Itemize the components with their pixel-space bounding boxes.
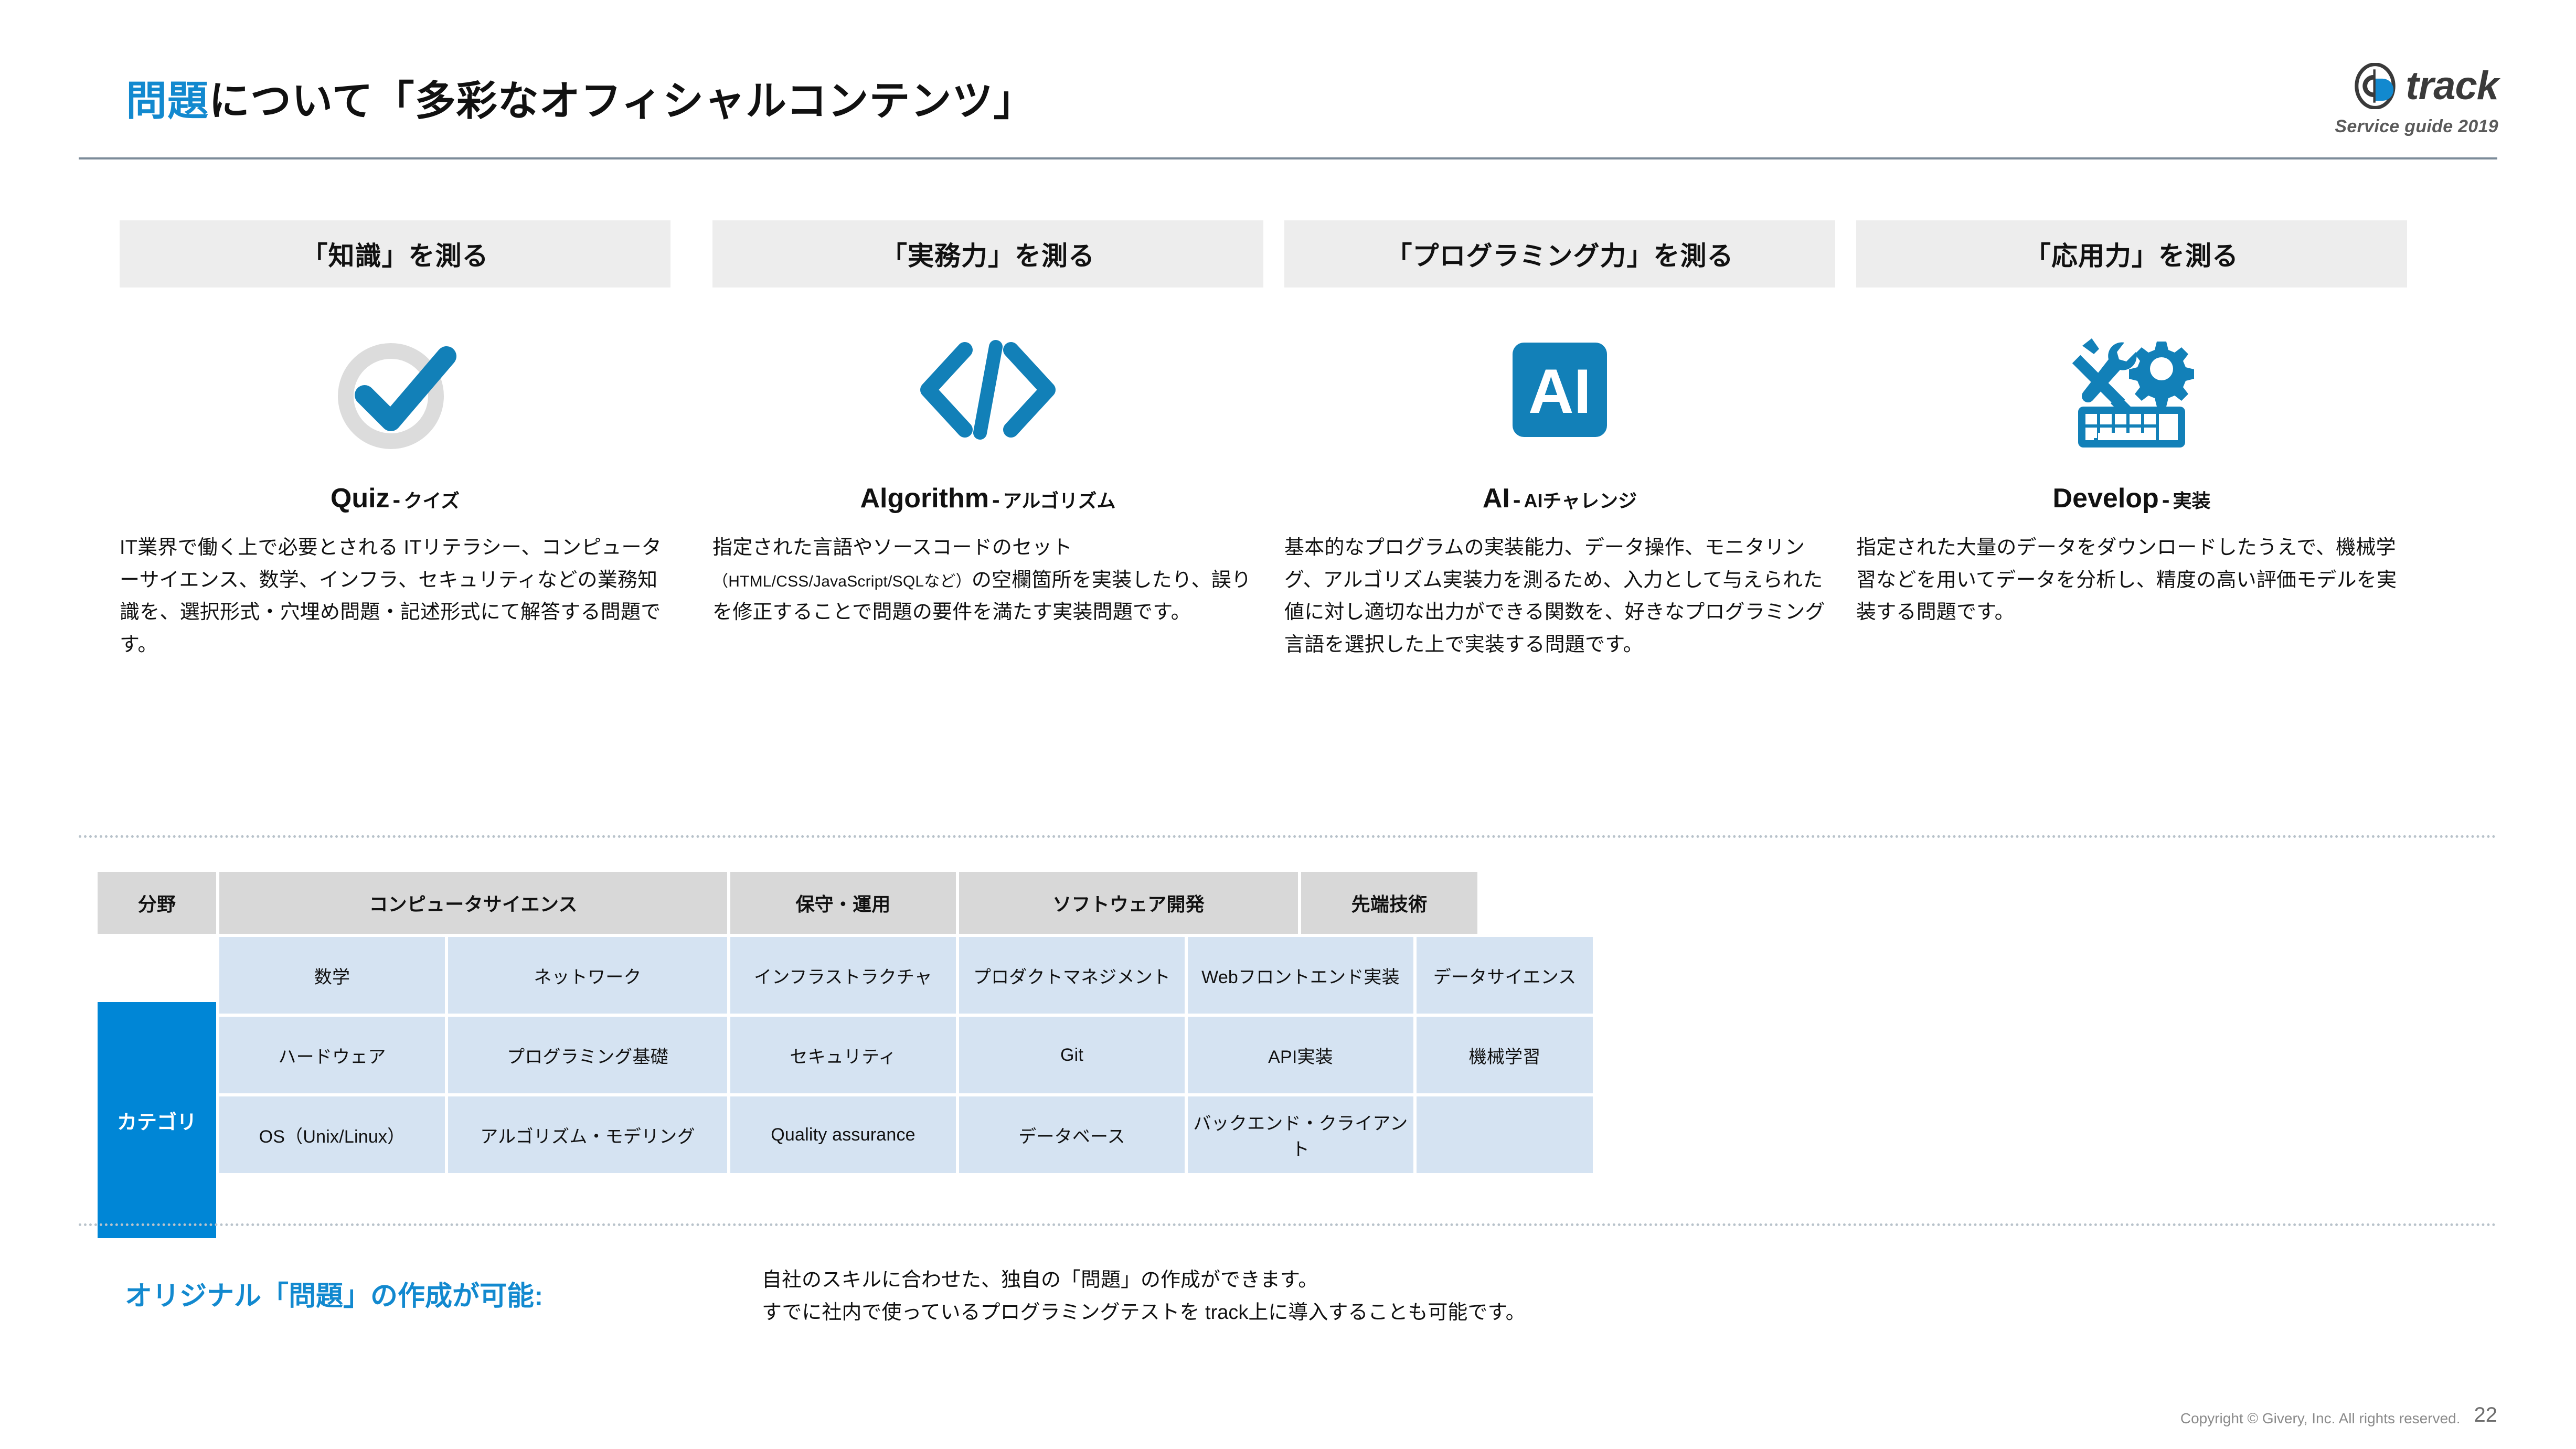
table-cell <box>1417 1096 1593 1173</box>
footer-copyright: Copyright © Givery, Inc. All rights rese… <box>2180 1410 2461 1427</box>
table-cell: Git <box>959 1017 1185 1093</box>
table-cell: プログラミング基礎 <box>448 1017 727 1093</box>
track-circle-logo-icon <box>2352 63 2398 109</box>
table-cell: ネットワーク <box>448 937 727 1014</box>
note-line-2: すでに社内で使っているプログラミングテストを track上に導入することも可能で… <box>762 1297 1526 1329</box>
column-develop-name: Develop-実装 <box>1856 483 2407 514</box>
header-divider <box>79 157 2497 159</box>
content-type-columns: 「知識」を測る Quiz-クイズ IT業界で働く上で必要とされる ITリテラシー… <box>0 220 2576 808</box>
column-ai-name-en: AI <box>1483 483 1510 514</box>
column-quiz-name: Quiz-クイズ <box>120 483 670 514</box>
table-row: ハードウェア プログラミング基礎 セキュリティ Git API実装 機械学習 <box>219 1017 2479 1093</box>
column-algorithm: 「実務力」を測る Algorithm-アルゴリズム 指定された言語やソースコード… <box>712 220 1263 629</box>
note-line-1: 自社のスキルに合わせた、独自の「問題」の作成ができます。 <box>762 1264 1526 1297</box>
table-body: カテゴリ 数学 ネットワーク インフラストラクチャ プロダクトマネジメント We… <box>98 937 2479 1173</box>
table-cell: データベース <box>959 1096 1185 1173</box>
brand-logo: track Service guide 2019 <box>2335 63 2498 137</box>
table-cell: OS（Unix/Linux） <box>219 1096 445 1173</box>
column-algorithm-body: 指定された言語やソースコードのセット（HTML/CSS/JavaScript/S… <box>712 532 1263 629</box>
slide-root: 問題について「多彩なオフィシャルコンテンツ」 track Service gui… <box>0 0 2576 1449</box>
column-algorithm-dash: - <box>989 487 1003 513</box>
column-develop: 「応用力」を測る <box>1856 220 2407 629</box>
column-ai-dash: - <box>1510 487 1524 513</box>
column-quiz: 「知識」を測る Quiz-クイズ IT業界で働く上で必要とされる ITリテラシー… <box>120 220 670 661</box>
column-quiz-body: IT業界で働く上で必要とされる ITリテラシー、コンピューターサイエンス、数学、… <box>120 532 670 661</box>
table-row: 数学 ネットワーク インフラストラクチャ プロダクトマネジメント Webフロント… <box>219 937 2479 1014</box>
page-title-accent: 問題 <box>126 78 209 124</box>
column-algorithm-name: Algorithm-アルゴリズム <box>712 483 1263 514</box>
column-algorithm-header: 「実務力」を測る <box>712 220 1263 287</box>
table-cell: インフラストラクチャ <box>730 937 956 1014</box>
table-row: OS（Unix/Linux） アルゴリズム・モデリング Quality assu… <box>219 1096 2479 1173</box>
divider-dotted-bottom <box>79 1223 2497 1226</box>
table-cell: 機械学習 <box>1417 1017 1593 1093</box>
check-circle-icon <box>120 308 670 471</box>
table-cell: バックエンド・クライアント <box>1188 1096 1413 1173</box>
table-cell: セキュリティ <box>730 1017 956 1093</box>
column-algorithm-body-langs: （HTML/CSS/JavaScript/SQLなど） <box>712 573 972 590</box>
column-algorithm-name-jp: アルゴリズム <box>1003 490 1116 512</box>
table-cell: Quality assurance <box>730 1096 956 1173</box>
brand-logo-subtitle: Service guide 2019 <box>2335 116 2498 137</box>
note-lines: 自社のスキルに合わせた、独自の「問題」の作成ができます。 すでに社内で使っている… <box>762 1264 1526 1329</box>
tools-gear-keyboard-icon <box>1856 308 2407 471</box>
table-cell: データサイエンス <box>1417 937 1593 1014</box>
slide-footer: Copyright © Givery, Inc. All rights rese… <box>2180 1403 2497 1427</box>
table-header-software-development: ソフトウェア開発 <box>959 872 1298 934</box>
page-title: 問題について「多彩なオフィシャルコンテンツ」 <box>126 68 1035 127</box>
column-algorithm-body-part1: 指定された言語やソースコードのセット <box>712 537 1072 559</box>
column-quiz-dash: - <box>390 487 404 513</box>
page-title-rest: について「多彩なオフィシャルコンテンツ」 <box>209 78 1035 124</box>
ai-badge-icon: AI <box>1284 308 1835 471</box>
footer-page-number: 22 <box>2474 1403 2498 1427</box>
brand-logo-text: track <box>2405 67 2498 105</box>
table-cell: アルゴリズム・モデリング <box>448 1096 727 1173</box>
divider-dotted-top <box>79 835 2497 838</box>
column-develop-body: 指定された大量のデータをダウンロードしたうえで、機械学習などを用いてデータを分析… <box>1856 532 2407 629</box>
column-develop-name-en: Develop <box>2053 483 2159 514</box>
column-develop-name-jp: 実装 <box>2173 490 2210 512</box>
column-quiz-name-jp: クイズ <box>403 490 460 512</box>
table-header-field: 分野 <box>98 872 216 934</box>
column-quiz-header: 「知識」を測る <box>120 220 670 287</box>
svg-text:AI: AI <box>1528 356 1591 427</box>
table-header-row: 分野 コンピュータサイエンス 保守・運用 ソフトウェア開発 先端技術 <box>98 872 2479 934</box>
column-ai-body: 基本的なプログラムの実装能力、データ操作、モニタリング、アルゴリズム実装力を測る… <box>1284 532 1835 661</box>
slide-header: 問題について「多彩なオフィシャルコンテンツ」 track Service gui… <box>0 0 2576 157</box>
table-category-label: カテゴリ <box>98 1002 216 1238</box>
column-develop-header: 「応用力」を測る <box>1856 220 2407 287</box>
table-header-operations: 保守・運用 <box>730 872 956 934</box>
code-brackets-icon <box>712 308 1263 471</box>
table-header-computer-science: コンピュータサイエンス <box>219 872 727 934</box>
category-table: 分野 コンピュータサイエンス 保守・運用 ソフトウェア開発 先端技術 カテゴリ … <box>98 872 2479 1176</box>
table-cell: ハードウェア <box>219 1017 445 1093</box>
table-cell: プロダクトマネジメント <box>959 937 1185 1014</box>
table-header-advanced-tech: 先端技術 <box>1301 872 1477 934</box>
table-cell: API実装 <box>1188 1017 1413 1093</box>
column-ai: 「プログラミング力」を測る AI AI-AIチャレンジ 基本的なプログラムの実装… <box>1284 220 1835 661</box>
column-ai-header: 「プログラミング力」を測る <box>1284 220 1835 287</box>
column-develop-dash: - <box>2159 487 2173 513</box>
column-ai-name-jp: AIチャレンジ <box>1524 490 1637 512</box>
column-algorithm-name-en: Algorithm <box>860 483 989 514</box>
column-quiz-name-en: Quiz <box>331 483 390 514</box>
column-ai-name: AI-AIチャレンジ <box>1284 483 1835 514</box>
table-cell: 数学 <box>219 937 445 1014</box>
note-label: オリジナル「問題」の作成が可能: <box>125 1274 543 1313</box>
table-cell: Webフロントエンド実装 <box>1188 937 1413 1014</box>
